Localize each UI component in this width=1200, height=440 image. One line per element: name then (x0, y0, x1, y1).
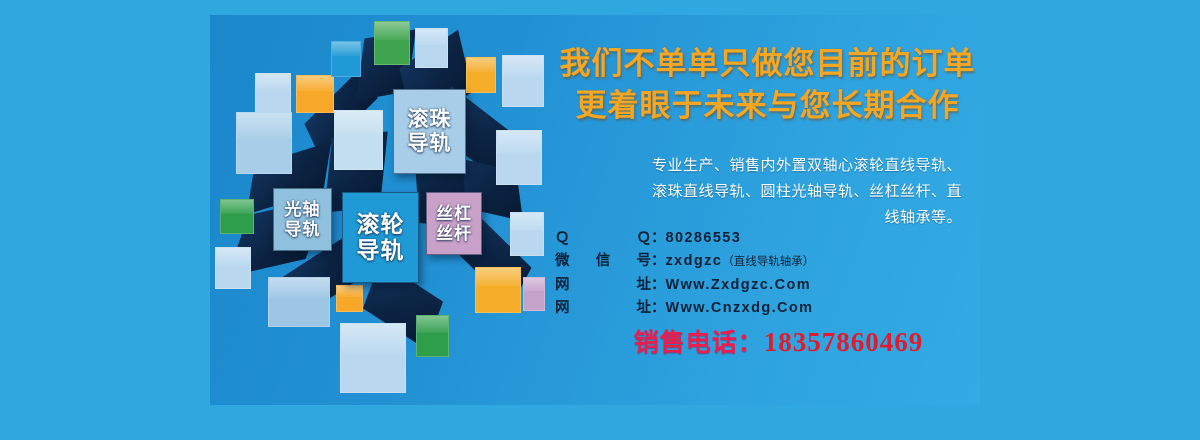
contact-separator: ： (651, 274, 666, 297)
sales-phone: 销售电话：18357860469 (577, 323, 980, 359)
product-box-line2: 导轨 (285, 220, 321, 239)
product-box-gunlun-daogui[interactable]: 滚轮 导轨 (342, 192, 419, 283)
decorative-cube (496, 130, 542, 185)
banner-panel: 滚珠 导轨 光轴 导轨 滚轮 导轨 丝杠 丝杆 我们不单单只做您目前的订单 更着… (210, 15, 980, 405)
decorative-cube (523, 277, 545, 311)
decorative-cube (255, 73, 291, 113)
decorative-cube (475, 267, 521, 313)
contact-row-qq: ＱＱ ： 80286553 (555, 227, 980, 250)
decorative-cube (236, 112, 292, 174)
contact-row-wechat: 微信号 ： zxdgzc （直线导轨轴承） (555, 250, 980, 273)
contact-row-website-1: 网址 ： Www.Zxdgzc.Com (555, 274, 980, 297)
description: 专业生产、销售内外置双轴心滚轮直线导轨、 滚珠直线导轨、圆柱光轴导轨、丝杠丝杆、… (577, 153, 962, 230)
decorative-cube (296, 75, 334, 113)
decorative-cube (510, 212, 544, 256)
headline-line-1: 我们不单单只做您目前的订单 (555, 43, 980, 85)
sales-phone-number[interactable]: 18357860469 (764, 327, 924, 357)
decorative-cube (334, 110, 383, 170)
decorative-cube (374, 21, 410, 65)
description-line-1: 专业生产、销售内外置双轴心滚轮直线导轨、 (577, 153, 962, 179)
product-box-line2: 丝杆 (436, 224, 472, 243)
promo-banner: 滚珠 导轨 光轴 导轨 滚轮 导轨 丝杠 丝杆 我们不单单只做您目前的订单 更着… (0, 0, 1200, 440)
contact-label: 网址 (555, 274, 651, 297)
decorative-cube (416, 315, 449, 357)
banner-text-column: 我们不单单只做您目前的订单 更着眼于未来与您长期合作 专业生产、销售内外置双轴心… (555, 15, 980, 405)
contact-value-wechat[interactable]: zxdgzc (666, 250, 723, 273)
contact-label: 微信号 (555, 250, 651, 273)
contact-value-website-1[interactable]: Www.Zxdgzc.Com (666, 274, 812, 297)
product-box-line1: 光轴 (285, 200, 321, 219)
contact-row-website-2: 网址 ： Www.Cnzxdg.Com (555, 297, 980, 320)
headline: 我们不单单只做您目前的订单 更着眼于未来与您长期合作 (555, 43, 980, 126)
product-box-line1: 滚轮 (357, 212, 405, 238)
decorative-cube (502, 55, 544, 107)
decorative-cube (331, 41, 361, 77)
decorative-cube (336, 285, 363, 312)
product-box-line1: 滚珠 (408, 108, 452, 132)
contact-value-qq[interactable]: 80286553 (666, 227, 742, 250)
decorative-cube (220, 199, 254, 234)
decorative-cube (415, 28, 448, 68)
product-box-gunzhu-daogui[interactable]: 滚珠 导轨 (393, 89, 466, 174)
description-line-2: 滚珠直线导轨、圆柱光轴导轨、丝杠丝杆、直 (577, 179, 962, 205)
contact-label: 网址 (555, 297, 651, 320)
cube-cluster-graphic: 滚珠 导轨 光轴 导轨 滚轮 导轨 丝杠 丝杆 (210, 15, 550, 405)
product-box-sigang-sigan[interactable]: 丝杠 丝杆 (426, 192, 482, 255)
decorative-cube (340, 323, 406, 393)
contact-block: ＱＱ ： 80286553 微信号 ： zxdgzc （直线导轨轴承） 网址 ：… (555, 227, 980, 321)
decorative-cube (268, 277, 330, 327)
contact-separator: ： (651, 250, 666, 273)
contact-value-website-2[interactable]: Www.Cnzxdg.Com (666, 297, 814, 320)
decorative-cube (466, 57, 496, 93)
contact-note-wechat: （直线导轨轴承） (722, 253, 814, 272)
contact-separator: ： (651, 297, 666, 320)
product-box-line1: 丝杠 (436, 204, 472, 223)
contact-separator: ： (651, 227, 666, 250)
product-box-line2: 导轨 (408, 132, 452, 156)
decorative-cube (215, 247, 251, 289)
sales-phone-label: 销售电话： (634, 329, 764, 357)
product-box-line2: 导轨 (357, 238, 405, 264)
headline-line-2: 更着眼于未来与您长期合作 (555, 85, 980, 127)
product-box-guangzhou-daogui[interactable]: 光轴 导轨 (273, 188, 332, 251)
contact-label: ＱＱ (555, 227, 651, 250)
